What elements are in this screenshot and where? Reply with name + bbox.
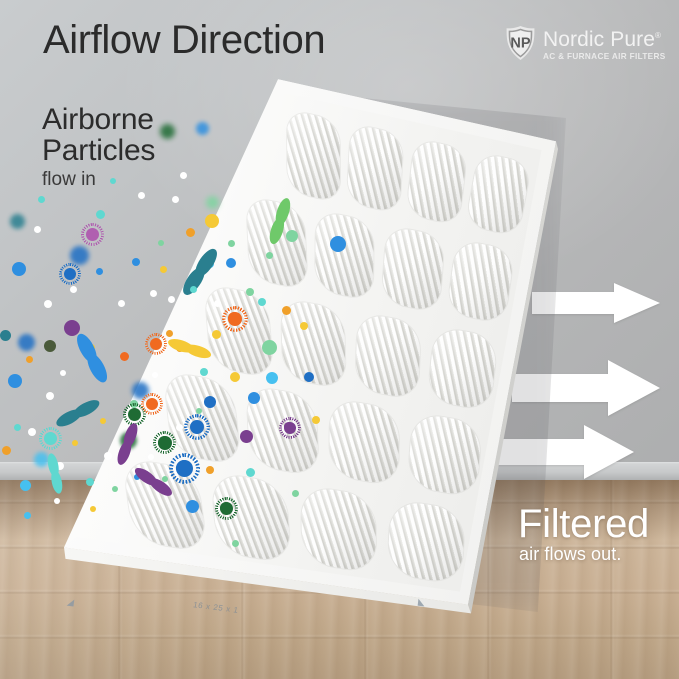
pleat-shading: [246, 385, 319, 476]
pleat-cell: [301, 485, 376, 574]
pleat-cell: [246, 196, 308, 291]
pleat-shading: [447, 239, 516, 325]
pleat-cell: [406, 138, 468, 226]
filter-corner-mark-right: ◣: [417, 597, 425, 609]
filtered-caption: Filtered: [518, 502, 649, 546]
pleat-cell: [347, 123, 404, 214]
pleat-cell: [163, 371, 241, 466]
product-infographic: Airflow Direction Airborne Particles flo…: [0, 0, 679, 679]
pleat-shading: [204, 284, 274, 379]
pleat-cell: [466, 152, 533, 237]
pleat-shading: [163, 371, 241, 466]
pleat-shading: [407, 412, 481, 498]
filter-body: [58, 76, 558, 621]
pleat-shading: [466, 152, 533, 237]
pleat-shading: [246, 196, 308, 291]
pleat-cell: [281, 298, 346, 389]
air-filter-panel: 16 x 25 x 1 ◢ ◣: [0, 0, 679, 679]
pleat-shading: [287, 109, 340, 203]
pleat-shading: [427, 326, 498, 412]
pleat-shading: [315, 210, 374, 301]
pleat-shading: [355, 312, 421, 400]
pleat-cell: [329, 398, 398, 487]
pleat-shading: [387, 499, 465, 585]
pleat-cell: [381, 225, 445, 313]
filter-corner-mark-left: ◢: [66, 597, 74, 609]
pleat-shading: [211, 472, 292, 563]
pleat-shading: [301, 485, 376, 574]
pleat-shading: [406, 138, 468, 226]
pleat-shading: [122, 458, 208, 553]
pleat-cell: [204, 284, 274, 379]
pleat-cell: [287, 109, 340, 203]
pleat-cell: [355, 312, 421, 400]
pleat-cell: [407, 412, 481, 498]
filtered-subcaption: air flows out.: [519, 544, 621, 565]
pleat-cell: [315, 210, 374, 301]
pleat-cell: [447, 239, 516, 325]
pleat-shading: [381, 225, 445, 313]
pleat-cell: [211, 472, 292, 563]
pleat-cell: [122, 458, 208, 553]
pleat-shading: [281, 298, 346, 389]
pleat-cell: [246, 385, 319, 476]
pleat-cell: [387, 499, 465, 585]
pleat-shading: [329, 398, 398, 487]
pleat-shading: [347, 123, 404, 214]
pleat-cell: [427, 326, 498, 412]
